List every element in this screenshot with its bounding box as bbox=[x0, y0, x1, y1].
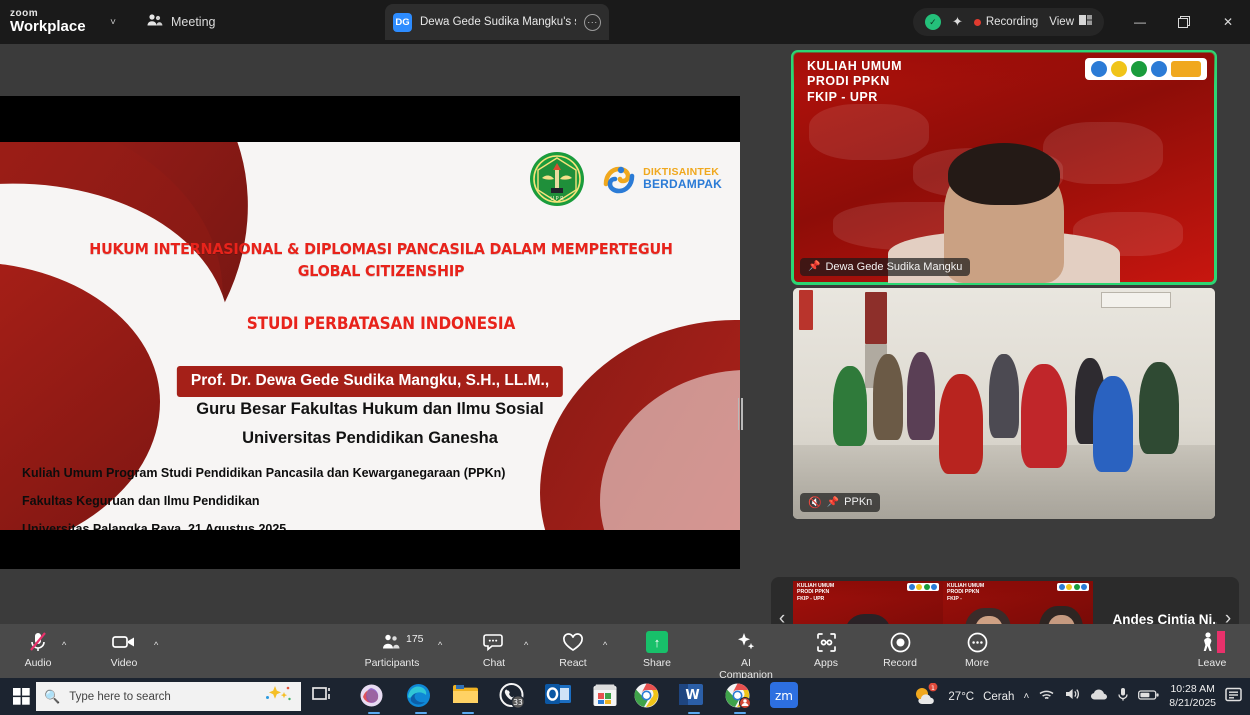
thumb-banner-logos bbox=[1057, 583, 1090, 591]
sun-cloud-icon[interactable]: 1 bbox=[913, 683, 939, 710]
record-label: Record bbox=[870, 657, 930, 669]
tab-more-icon[interactable]: ··· bbox=[584, 14, 601, 31]
ai-sparkle-icon[interactable]: ✦ bbox=[952, 14, 963, 30]
thumb-banner-line3: FKIP - UPR bbox=[797, 596, 834, 603]
slide-speaker-affiliation: Universitas Pendidikan Ganesha bbox=[0, 429, 740, 448]
react-button[interactable]: React bbox=[543, 629, 603, 669]
svg-text:zm: zm bbox=[775, 689, 793, 703]
tray-chevron-up-icon[interactable]: ˄ bbox=[1023, 691, 1029, 702]
word-icon[interactable]: W bbox=[678, 682, 707, 711]
panel-resize-handle[interactable] bbox=[736, 396, 744, 432]
upr-university-seal-icon: U P R bbox=[528, 150, 586, 208]
maximize-button[interactable] bbox=[1162, 0, 1206, 44]
logo-badge-icon-2 bbox=[916, 584, 922, 590]
leave-button[interactable]: Leave bbox=[1182, 629, 1242, 669]
zoom-logo-line2: Workplace bbox=[10, 19, 96, 35]
meeting-nav-label: Meeting bbox=[171, 15, 215, 29]
speaker-icon[interactable] bbox=[1064, 687, 1081, 706]
slide-footer-line-1: Kuliah Umum Program Studi Pendidikan Pan… bbox=[22, 466, 505, 480]
logo-badge-icon-3 bbox=[1074, 584, 1080, 590]
student-8 bbox=[1093, 376, 1133, 472]
logo-badge-icon-5 bbox=[1171, 61, 1201, 77]
tile-banner: KULIAH UMUM PRODI PPKN FKIP - UPR bbox=[793, 52, 1215, 86]
app-running-indicator bbox=[688, 712, 700, 715]
microphone-muted-icon bbox=[8, 629, 68, 655]
tab-title: Dewa Gede Sudika Mangku's scre bbox=[420, 16, 576, 28]
weather-condition-label: Cerah bbox=[983, 691, 1014, 703]
whatsapp-icon[interactable]: 33 bbox=[498, 682, 527, 711]
student-9 bbox=[1139, 362, 1179, 454]
student-5 bbox=[989, 354, 1019, 438]
meeting-stage: U P R DIKTISAINTEK BERDAMPAK HUK bbox=[0, 44, 1250, 624]
clock-date: 8/21/2025 bbox=[1169, 697, 1216, 710]
student-6 bbox=[1021, 364, 1067, 468]
thumb-banner-text: KULIAH UMUM PRODI PPKN FKIP - UPR bbox=[797, 583, 834, 603]
edge-icon[interactable] bbox=[405, 682, 434, 711]
video-label: Video bbox=[94, 657, 154, 669]
task-view-icon[interactable] bbox=[310, 682, 339, 711]
video-tile-speaker[interactable]: KULIAH UMUM PRODI PPKN FKIP - UPR 📌 Dewa… bbox=[793, 52, 1215, 283]
chat-bubble-icon bbox=[464, 629, 524, 655]
student-3 bbox=[907, 352, 935, 440]
battery-icon[interactable] bbox=[1138, 688, 1160, 706]
tab-avatar: DG bbox=[393, 13, 412, 32]
camera-icon bbox=[94, 629, 154, 655]
chat-button[interactable]: Chat bbox=[464, 629, 524, 669]
meeting-status-pill: ✓ ✦ Recording View bbox=[913, 8, 1104, 36]
clock-time: 10:28 AM bbox=[1169, 683, 1216, 696]
video-tile-classroom[interactable]: 🔇 📌 PPKn bbox=[793, 288, 1215, 519]
student-1 bbox=[833, 366, 867, 446]
app-running-indicator bbox=[368, 712, 380, 715]
notification-icon[interactable] bbox=[1225, 687, 1242, 707]
pin-icon: 📌 bbox=[808, 261, 820, 272]
student-4 bbox=[939, 374, 983, 474]
tile-banner-line2: PRODI PPKN bbox=[807, 74, 902, 89]
audio-caret-icon[interactable]: ^ bbox=[62, 640, 66, 650]
wall-whiteboard bbox=[1101, 292, 1171, 308]
thumb-banner-line2: PRODI PPKN bbox=[947, 589, 984, 596]
tile-name-label: PPKn bbox=[844, 496, 872, 508]
slide-title-line2: GLOBAL CITIZENSHIP bbox=[30, 260, 732, 282]
slide-title-line1: HUKUM INTERNASIONAL & DIPLOMASI PANCASIL… bbox=[30, 238, 732, 260]
record-button[interactable]: Record bbox=[870, 629, 930, 669]
view-label: View bbox=[1049, 16, 1074, 28]
wall-poster-2 bbox=[865, 292, 887, 344]
wall-poster-1 bbox=[799, 290, 813, 330]
logo-badge-icon-1 bbox=[1091, 61, 1107, 77]
audio-label: Audio bbox=[8, 657, 68, 669]
search-placeholder: Type here to search bbox=[69, 691, 252, 703]
video-panel: KULIAH UMUM PRODI PPKN FKIP - UPR 📌 Dewa… bbox=[793, 52, 1215, 568]
thumb-banner: KULIAH UMUM PRODI PPKN FKIP - UPR bbox=[793, 581, 943, 599]
logo-badge-icon-1 bbox=[909, 584, 915, 590]
tile-banner-line1: KULIAH UMUM bbox=[807, 59, 902, 74]
close-button[interactable]: ✕ bbox=[1206, 0, 1250, 44]
outlook-icon[interactable] bbox=[545, 682, 574, 711]
zoom-icon[interactable]: zm bbox=[770, 682, 799, 711]
more-button[interactable]: More bbox=[947, 629, 1007, 669]
chrome-icon[interactable] bbox=[633, 682, 662, 711]
logo-badge-icon-2 bbox=[1066, 584, 1072, 590]
participants-caret-icon[interactable]: ^ bbox=[438, 640, 442, 650]
apps-button[interactable]: Apps bbox=[796, 629, 856, 669]
recording-indicator[interactable]: Recording bbox=[974, 16, 1038, 28]
tile-banner-line3: FKIP - UPR bbox=[807, 90, 902, 105]
react-caret-icon[interactable]: ^ bbox=[603, 640, 607, 650]
minimize-button[interactable]: — bbox=[1118, 0, 1162, 44]
more-dots-icon bbox=[947, 629, 1007, 655]
share-screen-icon: ↑ bbox=[646, 631, 668, 653]
slide-title: HUKUM INTERNASIONAL & DIPLOMASI PANCASIL… bbox=[30, 238, 732, 283]
tile-nametag-classroom: 🔇 📌 PPKn bbox=[800, 493, 880, 513]
diktisaintek-logo: DIKTISAINTEK BERDAMPAK bbox=[602, 162, 722, 196]
slide-speaker-title: Guru Besar Fakultas Hukum dan Ilmu Sosia… bbox=[0, 400, 740, 419]
tile-banner-text: KULIAH UMUM PRODI PPKN FKIP - UPR bbox=[807, 59, 902, 105]
tile-name-label: Dewa Gede Sudika Mangku bbox=[825, 261, 962, 273]
thumb-banner-text: KULIAH UMUM PRODI PPKN FKIP - bbox=[947, 583, 984, 603]
workplace-chevron-down-icon[interactable]: ˅ bbox=[96, 17, 130, 28]
wifi-icon[interactable] bbox=[1038, 687, 1055, 706]
people-icon bbox=[146, 13, 163, 32]
layout-icon bbox=[1079, 13, 1092, 31]
shield-check-icon[interactable]: ✓ bbox=[925, 14, 941, 30]
slide-speaker-name: Prof. Dr. Dewa Gede Sudika Mangku, S.H.,… bbox=[177, 366, 563, 397]
mic-muted-icon: 🔇 bbox=[808, 496, 822, 509]
audio-button[interactable]: Audio bbox=[8, 629, 68, 669]
recording-label: Recording bbox=[986, 16, 1038, 28]
logo-badge-icon-1 bbox=[1059, 584, 1065, 590]
leave-label: Leave bbox=[1182, 657, 1242, 669]
tile-nametag-speaker: 📌 Dewa Gede Sudika Mangku bbox=[800, 258, 970, 277]
record-icon bbox=[870, 629, 930, 655]
app-running-indicator bbox=[415, 712, 427, 715]
slide-footer-line-3: Universitas Palangka Raya, 21 Agustus 20… bbox=[22, 522, 505, 530]
ai-sparkle-icon bbox=[716, 629, 776, 655]
zoom-title-bar: zoom Workplace ˅ Meeting DG Dewa Gede Su… bbox=[0, 0, 1250, 44]
onedrive-icon[interactable] bbox=[1090, 688, 1108, 706]
temperature-label: 27°C bbox=[948, 691, 974, 703]
slide-footer: Kuliah Umum Program Studi Pendidikan Pan… bbox=[22, 466, 505, 530]
participants-label: Participants bbox=[362, 657, 422, 669]
presentation-slide: U P R DIKTISAINTEK BERDAMPAK HUK bbox=[0, 142, 740, 530]
zoom-toolbar: Audio ^ Video ^ Participants 175 ^ bbox=[0, 624, 1250, 678]
video-button[interactable]: Video bbox=[94, 629, 154, 669]
speaker-hair bbox=[948, 143, 1060, 205]
logo-badge-icon-2 bbox=[1111, 61, 1127, 77]
whatsapp-badge-count: 33 bbox=[513, 698, 523, 707]
app-running-indicator bbox=[462, 712, 474, 715]
participants-count: 175 bbox=[406, 633, 424, 645]
copilot-icon[interactable] bbox=[358, 682, 387, 711]
apps-label: Apps bbox=[796, 657, 856, 669]
search-input[interactable]: 🔍 Type here to search bbox=[36, 682, 301, 711]
app-running-indicator bbox=[734, 712, 746, 715]
chat-caret-icon[interactable]: ^ bbox=[524, 640, 528, 650]
react-label: React bbox=[543, 657, 603, 669]
diktisaintek-mark-icon bbox=[602, 162, 636, 196]
thumb-banner-line3: FKIP - bbox=[947, 596, 984, 603]
leave-meeting-icon bbox=[1182, 629, 1242, 655]
thumb-banner-line2: PRODI PPKN bbox=[797, 589, 834, 596]
slide-logos: U P R DIKTISAINTEK BERDAMPAK bbox=[528, 150, 722, 208]
logo-badge-icon-3 bbox=[1131, 61, 1147, 77]
slide-footer-line-2: Fakultas Keguruan dan Ilmu Pendidikan bbox=[22, 494, 505, 508]
apps-icon bbox=[796, 629, 856, 655]
share-button[interactable]: ↑ Share bbox=[627, 629, 687, 669]
video-caret-icon[interactable]: ^ bbox=[154, 640, 158, 650]
recording-dot-icon bbox=[974, 19, 981, 26]
logo-badge-icon-3 bbox=[924, 584, 930, 590]
ai-companion-button[interactable]: AI Companion bbox=[716, 629, 776, 681]
taskbar-clock[interactable]: 10:28 AM 8/21/2025 bbox=[1169, 683, 1216, 709]
svg-text:U P R: U P R bbox=[550, 196, 564, 202]
view-button[interactable]: View bbox=[1049, 13, 1092, 31]
student-2 bbox=[873, 354, 903, 440]
tile-banner-logos bbox=[1085, 58, 1207, 80]
chat-label: Chat bbox=[464, 657, 524, 669]
microphone-icon[interactable] bbox=[1117, 687, 1129, 707]
svg-text:W: W bbox=[685, 688, 699, 703]
file-explorer-icon[interactable] bbox=[452, 682, 481, 711]
weather-badge: 1 bbox=[931, 684, 935, 692]
magnifier-icon: 🔍 bbox=[44, 689, 60, 705]
slide-subtitle: STUDI PERBATASAN INDONESIA bbox=[40, 314, 722, 334]
meeting-nav-item[interactable]: Meeting bbox=[146, 13, 215, 32]
microsoft-store-icon[interactable] bbox=[592, 682, 621, 711]
thumb-banner: KULIAH UMUM PRODI PPKN FKIP - bbox=[943, 581, 1093, 599]
share-label: Share bbox=[627, 657, 687, 669]
zoom-workplace-logo: zoom Workplace bbox=[0, 9, 96, 35]
diktisaintek-line2: BERDAMPAK bbox=[643, 178, 722, 191]
screen-share-tab[interactable]: DG Dewa Gede Sudika Mangku's scre ··· bbox=[385, 4, 609, 40]
chrome-profile-icon[interactable] bbox=[724, 682, 753, 711]
logo-badge-icon-4 bbox=[1151, 61, 1167, 77]
title-bar-right-cluster: ✓ ✦ Recording View — ✕ bbox=[913, 0, 1250, 44]
heart-icon bbox=[543, 629, 603, 655]
shared-screen-area[interactable]: U P R DIKTISAINTEK BERDAMPAK HUK bbox=[0, 96, 740, 569]
system-tray: 1 27°C Cerah ˄ bbox=[913, 678, 1250, 715]
windows-taskbar: 🔍 Type here to search bbox=[0, 678, 1250, 715]
logo-badge-icon-4 bbox=[931, 584, 937, 590]
logo-badge-icon-4 bbox=[1081, 584, 1087, 590]
copilot-sparkle-icon[interactable] bbox=[261, 684, 293, 709]
pin-icon: 📌 bbox=[827, 497, 839, 508]
more-label: More bbox=[947, 657, 1007, 669]
thumb-banner-logos bbox=[907, 583, 940, 591]
